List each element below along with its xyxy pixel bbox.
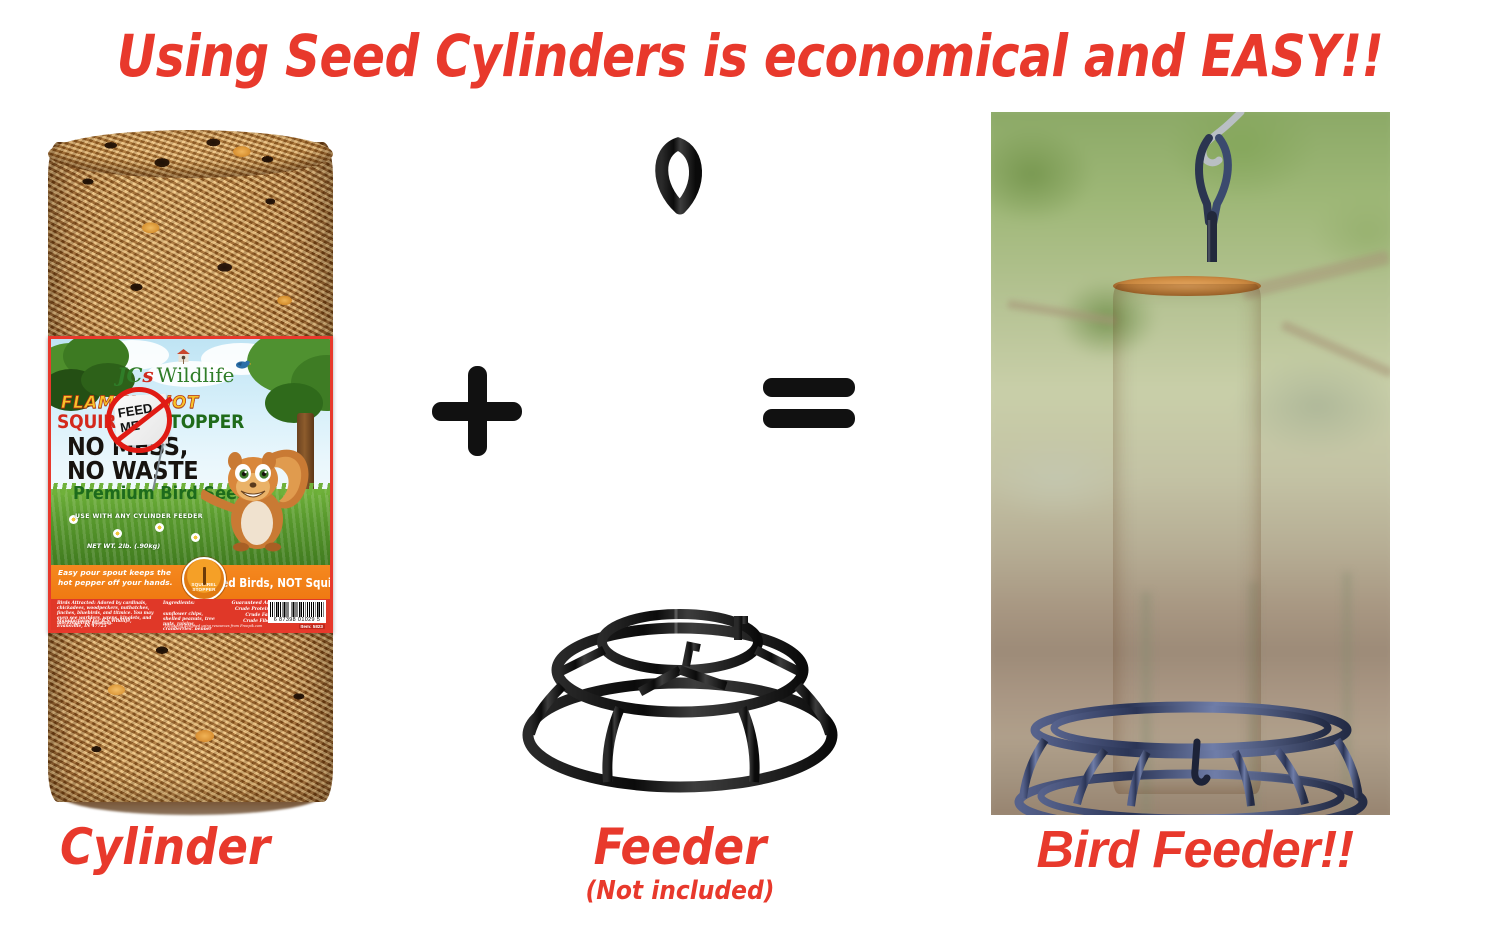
label-item-number: Item: 5823 bbox=[299, 624, 325, 629]
product-label: FLAMING HOT SQUIRREL STOPPER NO MESS, NO… bbox=[48, 336, 333, 633]
label-net-weight-text: NET WT. 2lb. (.90kg) bbox=[87, 542, 160, 550]
barcode-icon: 6 87398 01029 5 bbox=[268, 600, 326, 623]
cylinder-top-face bbox=[48, 130, 333, 178]
daisy-flower-icon bbox=[155, 523, 164, 532]
brand-logo-jc: JC bbox=[117, 363, 142, 387]
caption-feeder-note: (Not included) bbox=[480, 876, 880, 906]
label-easy-pour-text: Easy pour spout keeps the hot pepper off… bbox=[58, 568, 176, 588]
bird-icon bbox=[235, 357, 251, 375]
page-headline: Using Seed Cylinders is economical and E… bbox=[53, 16, 1448, 96]
brand-logo: JCsWildlife bbox=[117, 363, 235, 387]
brand-logo-wildlife: Wildlife bbox=[157, 363, 235, 387]
label-ingredients-heading: Ingredients: bbox=[163, 601, 217, 606]
caption-feeder: Feeder bbox=[480, 818, 880, 876]
caption-bird-feeder: Bird Feeder!! bbox=[960, 820, 1430, 880]
barcode-number: 6 87398 01029 5 bbox=[270, 617, 324, 623]
equals-icon bbox=[763, 378, 855, 440]
squirrel-mascot-icon bbox=[201, 417, 313, 553]
seal-text: SQUIRREL STOPPER bbox=[184, 582, 224, 592]
caption-cylinder: Cylinder bbox=[0, 818, 330, 876]
squirrel-stopper-seal-icon: SQUIRREL STOPPER bbox=[182, 557, 226, 601]
seed-cylinder-product-image: FLAMING HOT SQUIRREL STOPPER NO MESS, NO… bbox=[20, 130, 350, 815]
barcode-bars bbox=[270, 602, 324, 617]
hanging-hook-icon bbox=[1179, 112, 1249, 257]
birdhouse-icon bbox=[177, 349, 190, 364]
no-feed-prohibition-icon bbox=[106, 387, 172, 453]
cylinder-feeder-stand-image bbox=[480, 130, 880, 810]
daisy-flower-icon bbox=[113, 529, 122, 538]
photo-blue-feeder-stand bbox=[1009, 698, 1373, 815]
label-use-with-text: USE WITH ANY CYLINDER FEEDER bbox=[75, 513, 203, 520]
brand-logo-accent: s bbox=[142, 363, 153, 387]
assembled-bird-feeder-photo bbox=[991, 112, 1390, 815]
label-packaging-note: *Packaging designed using resources from… bbox=[163, 624, 293, 628]
label-manufactured-for-text: Manufactured for JCS Wildlife, Evansvill… bbox=[57, 619, 157, 629]
daisy-flower-icon bbox=[191, 533, 200, 542]
